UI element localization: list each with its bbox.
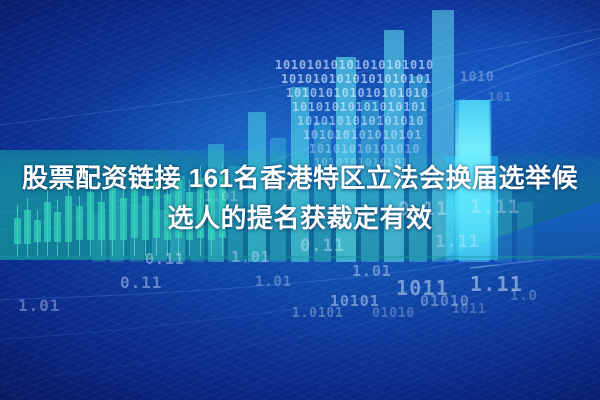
news-banner: 1010101010101010101010101010101010101011… <box>0 0 600 400</box>
vignette-overlay <box>0 0 600 400</box>
